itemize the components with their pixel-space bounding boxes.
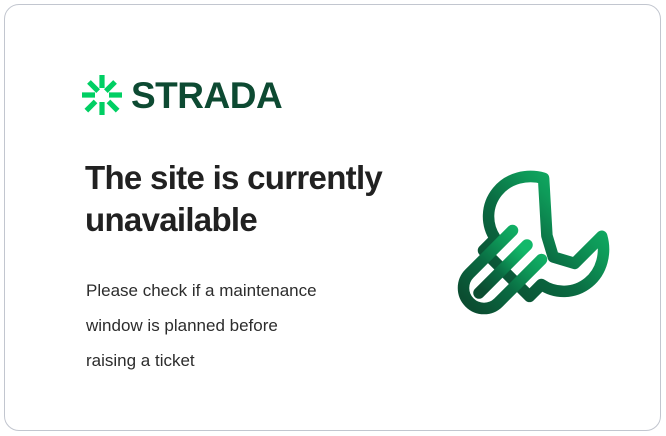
description-line: Please check if a maintenance bbox=[86, 273, 406, 308]
page-description: Please check if a maintenance window is … bbox=[86, 273, 406, 379]
brand-lockup: STRADA bbox=[82, 73, 282, 117]
description-line: window is planned before bbox=[86, 308, 406, 343]
description-line: raising a ticket bbox=[86, 343, 406, 378]
brand-wordmark: STRADA bbox=[131, 77, 282, 114]
status-card: STRADA The site is currently unavailable… bbox=[4, 4, 661, 431]
page-title: The site is currently unavailable bbox=[85, 157, 415, 241]
error-page: STRADA The site is currently unavailable… bbox=[0, 0, 666, 436]
strada-asterisk-icon bbox=[82, 75, 122, 115]
